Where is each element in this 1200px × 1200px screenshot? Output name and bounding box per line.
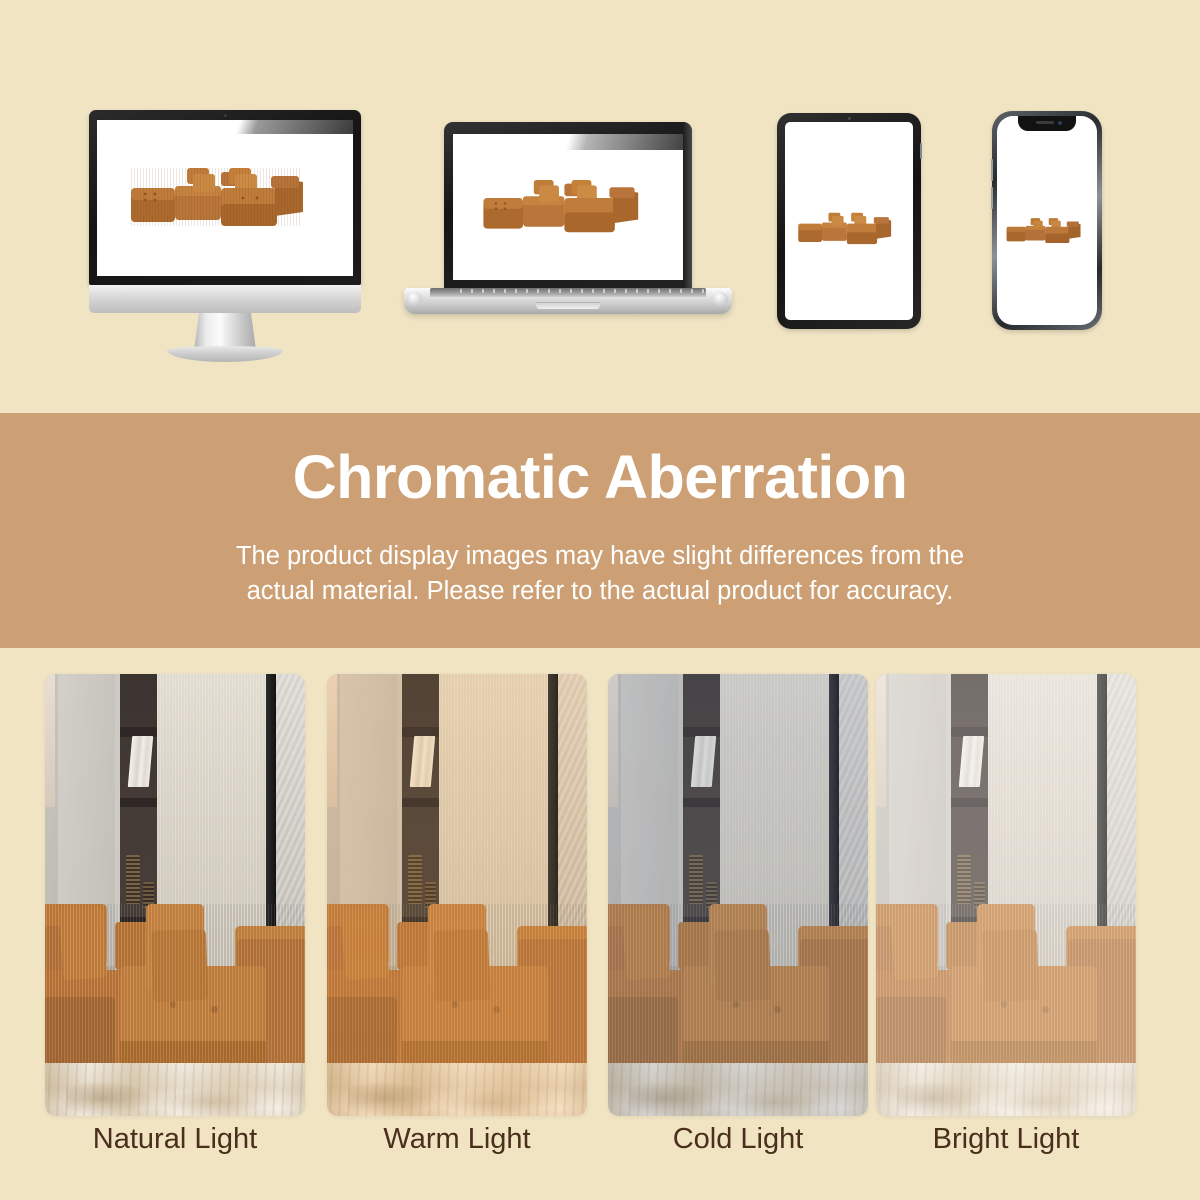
shelf-divider [683, 798, 719, 808]
wall-left-edge [45, 674, 55, 807]
room-photo-natural-light [45, 674, 305, 1116]
monitor-webcam-icon [224, 114, 227, 117]
sofa-product-illustration [1004, 212, 1090, 250]
shelf-divider [120, 798, 156, 808]
laptop-screen-glare [453, 134, 683, 150]
laptop-base [404, 288, 732, 314]
vase-decor [408, 855, 422, 904]
laptop-keys [460, 289, 728, 293]
wall-left-edge [327, 674, 337, 807]
device-showcase-strip [0, 0, 1200, 413]
sofa-product-illustration [795, 205, 903, 253]
banner-title: Chromatic Aberration [0, 447, 1200, 508]
smartphone-mockup [992, 111, 1102, 330]
lighting-card-natural-light [45, 674, 305, 1116]
vase-decor [689, 855, 703, 904]
tablet-screen [785, 122, 913, 320]
monitor-stand-neck [194, 313, 256, 350]
corduroy-texture [327, 904, 587, 1090]
phone-earpiece-icon [1036, 121, 1054, 124]
wall-left-edge [876, 674, 886, 807]
corduroy-texture [608, 904, 868, 1090]
banner-subtitle-line-1: The product display images may have slig… [0, 539, 1200, 574]
phone-screen [997, 116, 1097, 325]
monitor-stand-base [167, 346, 283, 362]
room-photo-bright-light [876, 674, 1136, 1116]
phone-notch [1018, 116, 1076, 131]
lighting-card-bright-light [876, 674, 1136, 1116]
books-decor [958, 736, 983, 787]
laptop-foot-right [714, 292, 728, 306]
monitor-screen [97, 120, 353, 276]
laptop-trackpad [536, 302, 600, 309]
corduroy-texture [45, 904, 305, 1090]
room-photo-cold-light [608, 674, 868, 1116]
label-warm-light: Warm Light [327, 1110, 587, 1168]
laptop-screen [453, 134, 683, 280]
laptop-lid-edge [683, 122, 692, 290]
chromatic-aberration-banner: Chromatic Aberration The product display… [0, 413, 1200, 648]
sofa-product-illustration [478, 167, 658, 247]
desktop-monitor-mockup [89, 110, 361, 285]
tablet-mockup [777, 113, 921, 329]
phone-volume-up-button [991, 159, 993, 181]
laptop-foot-left [408, 292, 422, 306]
vase-decor [126, 855, 140, 904]
label-bright-light: Bright Light [876, 1110, 1136, 1168]
sofa-product-illustration [125, 154, 325, 242]
lighting-labels-row: Natural Light Warm Light Cold Light Brig… [0, 1110, 1200, 1180]
laptop-keyboard-deck [430, 288, 706, 297]
tablet-power-button [920, 143, 922, 159]
vase-decor [957, 855, 971, 904]
books-decor [690, 736, 715, 787]
banner-subtitle-line-2: actual material. Please refer to the act… [0, 574, 1200, 609]
laptop-mockup [444, 122, 692, 290]
lighting-card-warm-light [327, 674, 587, 1116]
marketing-image: Chromatic Aberration The product display… [0, 0, 1200, 1200]
lighting-card-cold-light [608, 674, 868, 1116]
books-decor [127, 736, 152, 787]
books-decor [409, 736, 434, 787]
phone-front-camera-icon [1058, 121, 1062, 125]
shelf-divider [951, 798, 987, 808]
monitor-chin [89, 285, 361, 313]
banner-subtitle: The product display images may have slig… [0, 539, 1200, 609]
label-cold-light: Cold Light [608, 1110, 868, 1168]
corduroy-texture [876, 904, 1136, 1090]
room-photo-warm-light [327, 674, 587, 1116]
tablet-camera-icon [848, 117, 851, 120]
phone-volume-down-button [991, 187, 993, 209]
shelf-divider [402, 798, 438, 808]
label-natural-light: Natural Light [45, 1110, 305, 1168]
wall-left-edge [608, 674, 618, 807]
